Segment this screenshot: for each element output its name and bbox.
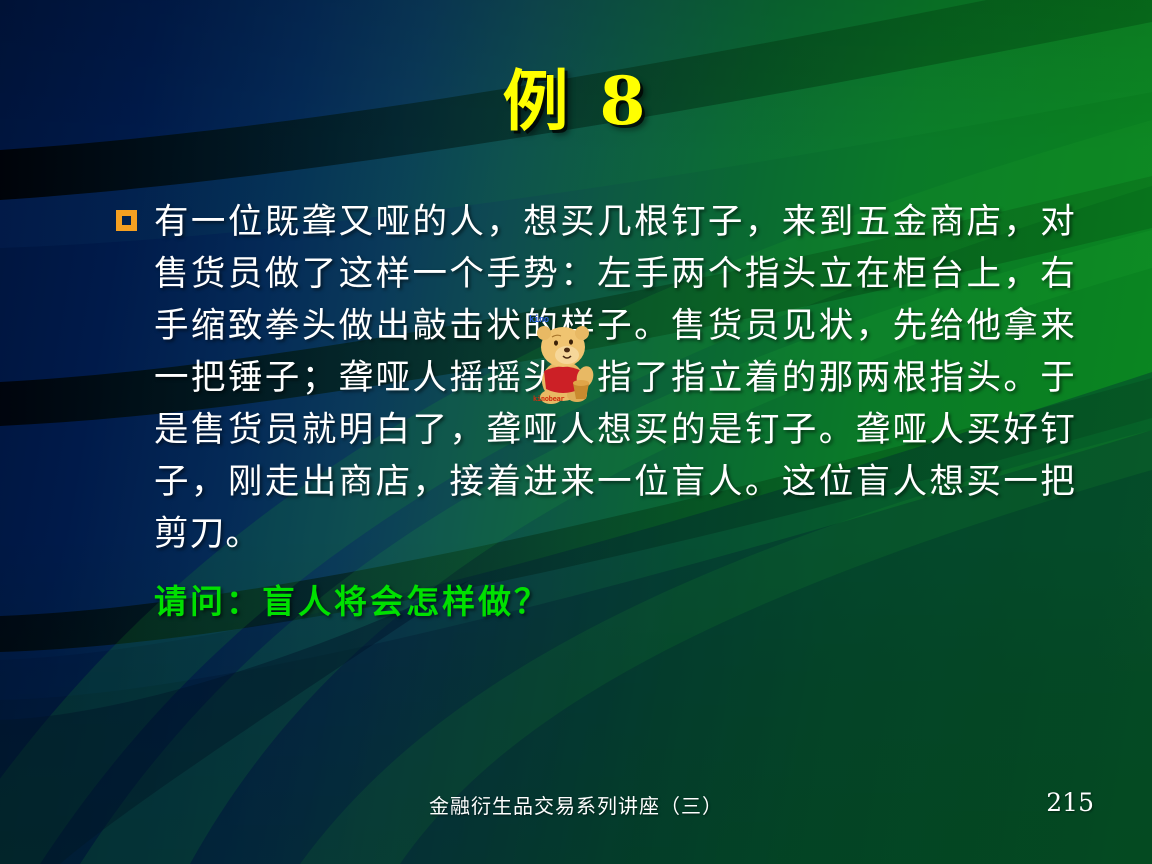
question-line: 请问：盲人将会怎样做？ — [116, 560, 1076, 626]
body-paragraph: 有一位既聋又哑的人，想买几根钉子，来到五金商店，对售货员做了这样一个手势：左手两… — [116, 196, 1076, 560]
presentation-slide: 例 8 有一位既聋又哑的人，想买几根钉子，来到五金商店，对售货员做了这样一个手势… — [0, 0, 1152, 864]
slide-footer: 金融衍生品交易系列讲座（三） — [0, 790, 1152, 819]
page-number: 215 — [1046, 788, 1094, 817]
slide-title: 例 8 — [0, 68, 1152, 134]
orange-square-bullet-icon — [116, 210, 137, 231]
slide-body: 有一位既聋又哑的人，想买几根钉子，来到五金商店，对售货员做了这样一个手势：左手两… — [116, 196, 1076, 626]
bullet-paragraph-row: 有一位既聋又哑的人，想买几根钉子，来到五金商店，对售货员做了这样一个手势：左手两… — [116, 196, 1076, 560]
